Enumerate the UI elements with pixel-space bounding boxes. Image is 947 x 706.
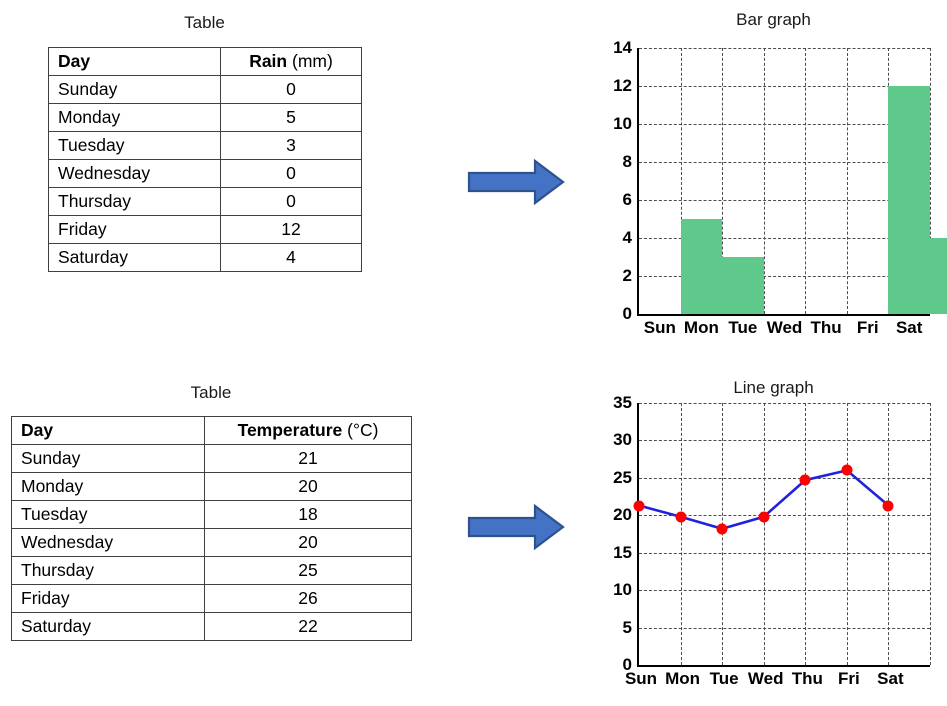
bar-graph-ytick: 2 xyxy=(623,266,632,286)
bar-graph-xtick: Mon xyxy=(684,318,719,338)
temp-table-header-day: Day xyxy=(12,417,205,445)
rain-row-day: Monday xyxy=(49,104,221,132)
data-point-wed xyxy=(758,511,769,522)
data-point-tue xyxy=(717,523,728,534)
bar-tue xyxy=(722,257,764,314)
data-point-fri xyxy=(841,465,852,476)
gridline-y-14 xyxy=(639,48,930,49)
rain-row-value: 0 xyxy=(221,160,362,188)
table-row: Thursday 0 xyxy=(49,188,362,216)
temp-row-value: 22 xyxy=(205,613,412,641)
data-point-sat xyxy=(883,500,894,511)
line-graph: Line graph 35 30 25 20 15 xyxy=(600,378,947,706)
temp-row-value: 18 xyxy=(205,501,412,529)
bar-graph-xtick: Tue xyxy=(728,318,757,338)
bar-graph-ytick: 8 xyxy=(623,152,632,172)
bar-graph-xtick: Thu xyxy=(811,318,842,338)
rain-row-value: 3 xyxy=(221,132,362,160)
gridline-x-4 xyxy=(805,48,806,314)
temp-table-caption: Table xyxy=(11,383,411,403)
gridline-y-12 xyxy=(639,86,930,87)
temp-row-day: Friday xyxy=(12,585,205,613)
line-graph-ytick: 25 xyxy=(613,468,632,488)
rain-row-value: 0 xyxy=(221,188,362,216)
table-row: Sunday 0 xyxy=(49,76,362,104)
temperature-table: Day Temperature (°C) Sunday 21 Monday 20… xyxy=(11,416,412,641)
data-point-mon xyxy=(675,511,686,522)
bar-graph: Bar graph 14 12 10 8 6 4 2 0 xyxy=(600,5,947,350)
line-graph-series xyxy=(639,403,930,665)
rain-table-header-rain: Rain (mm) xyxy=(221,48,362,76)
line-graph-ytick: 10 xyxy=(613,580,632,600)
gridline-x-3 xyxy=(764,48,765,314)
rain-table-caption: Table xyxy=(48,13,361,33)
bar-graph-xtick: Fri xyxy=(857,318,879,338)
temp-table-header-temperature: Temperature (°C) xyxy=(205,417,412,445)
line-graph-ytick: 35 xyxy=(613,393,632,413)
bar-graph-ytick: 6 xyxy=(623,190,632,210)
bar-graph-ytick: 14 xyxy=(613,38,632,58)
right-arrow-icon xyxy=(467,158,565,206)
table-row: Friday 26 xyxy=(12,585,412,613)
table-row: Sunday 21 xyxy=(12,445,412,473)
temp-row-value: 26 xyxy=(205,585,412,613)
rain-table-header-day: Day xyxy=(49,48,221,76)
bar-sat xyxy=(930,238,947,314)
rain-row-value: 4 xyxy=(221,244,362,272)
temp-row-day: Thursday xyxy=(12,557,205,585)
line-graph-xtick: Fri xyxy=(838,669,860,689)
temp-row-value: 20 xyxy=(205,529,412,557)
table-row: Tuesday 3 xyxy=(49,132,362,160)
table-row: Tuesday 18 xyxy=(12,501,412,529)
bar-mon xyxy=(681,219,723,314)
temp-row-day: Saturday xyxy=(12,613,205,641)
gridline-y-8 xyxy=(639,162,930,163)
table-row: Wednesday 0 xyxy=(49,160,362,188)
line-graph-xtick: Sun xyxy=(625,669,657,689)
table-row: Saturday 4 xyxy=(49,244,362,272)
rain-row-day: Friday xyxy=(49,216,221,244)
rain-row-day: Wednesday xyxy=(49,160,221,188)
arrow-table-to-line-graph xyxy=(467,503,565,551)
line-graph-ytick: 20 xyxy=(613,505,632,525)
table-header-row: Day Temperature (°C) xyxy=(12,417,412,445)
temp-row-day: Sunday xyxy=(12,445,205,473)
bar-graph-ytick: 12 xyxy=(613,76,632,96)
table-row: Monday 5 xyxy=(49,104,362,132)
line-graph-ytick: 15 xyxy=(613,543,632,563)
line-graph-plot-area: 35 30 25 20 15 10 5 0 Sun Mon Tue Wed Th… xyxy=(637,403,930,667)
temp-row-value: 25 xyxy=(205,557,412,585)
rain-row-day: Thursday xyxy=(49,188,221,216)
table-row: Wednesday 20 xyxy=(12,529,412,557)
line-graph-xtick: Mon xyxy=(665,669,700,689)
bar-graph-ytick: 0 xyxy=(623,304,632,324)
temp-row-day: Wednesday xyxy=(12,529,205,557)
rain-row-value: 0 xyxy=(221,76,362,104)
line-graph-ytick: 30 xyxy=(613,430,632,450)
table-header-row: Day Rain (mm) xyxy=(49,48,362,76)
line-graph-xtick: Thu xyxy=(792,669,823,689)
gridline-y-10 xyxy=(639,124,930,125)
table-row: Monday 20 xyxy=(12,473,412,501)
table-row: Thursday 25 xyxy=(12,557,412,585)
gridline-x-7 xyxy=(930,403,931,665)
bar-graph-ytick: 10 xyxy=(613,114,632,134)
bar-fri xyxy=(888,86,930,314)
bar-graph-xtick: Sat xyxy=(896,318,922,338)
right-arrow-icon xyxy=(467,503,565,551)
line-graph-title: Line graph xyxy=(600,378,947,398)
line-graph-xtick: Wed xyxy=(748,669,784,689)
rain-row-value: 5 xyxy=(221,104,362,132)
line-graph-ytick: 5 xyxy=(623,618,632,638)
temp-row-day: Tuesday xyxy=(12,501,205,529)
temp-row-value: 20 xyxy=(205,473,412,501)
rain-row-day: Sunday xyxy=(49,76,221,104)
line-graph-xtick: Tue xyxy=(710,669,739,689)
temp-row-day: Monday xyxy=(12,473,205,501)
bar-graph-ytick: 4 xyxy=(623,228,632,248)
rain-row-value: 12 xyxy=(221,216,362,244)
table-row: Friday 12 xyxy=(49,216,362,244)
data-point-thu xyxy=(800,475,811,486)
gridline-y-6 xyxy=(639,200,930,201)
temp-row-value: 21 xyxy=(205,445,412,473)
rain-table: Day Rain (mm) Sunday 0 Monday 5 Tuesday … xyxy=(48,47,362,272)
gridline-x-5 xyxy=(847,48,848,314)
bar-graph-xtick: Wed xyxy=(767,318,803,338)
line-graph-xtick: Sat xyxy=(877,669,903,689)
rain-row-day: Tuesday xyxy=(49,132,221,160)
rain-row-day: Saturday xyxy=(49,244,221,272)
bar-graph-title: Bar graph xyxy=(600,10,947,30)
bar-graph-plot-area: 14 12 10 8 6 4 2 0 Sun Mon Tue Wed Thu F… xyxy=(637,48,930,316)
data-point-sun xyxy=(634,500,645,511)
arrow-table-to-bar-graph xyxy=(467,158,565,206)
bar-graph-xtick: Sun xyxy=(644,318,676,338)
table-row: Saturday 22 xyxy=(12,613,412,641)
